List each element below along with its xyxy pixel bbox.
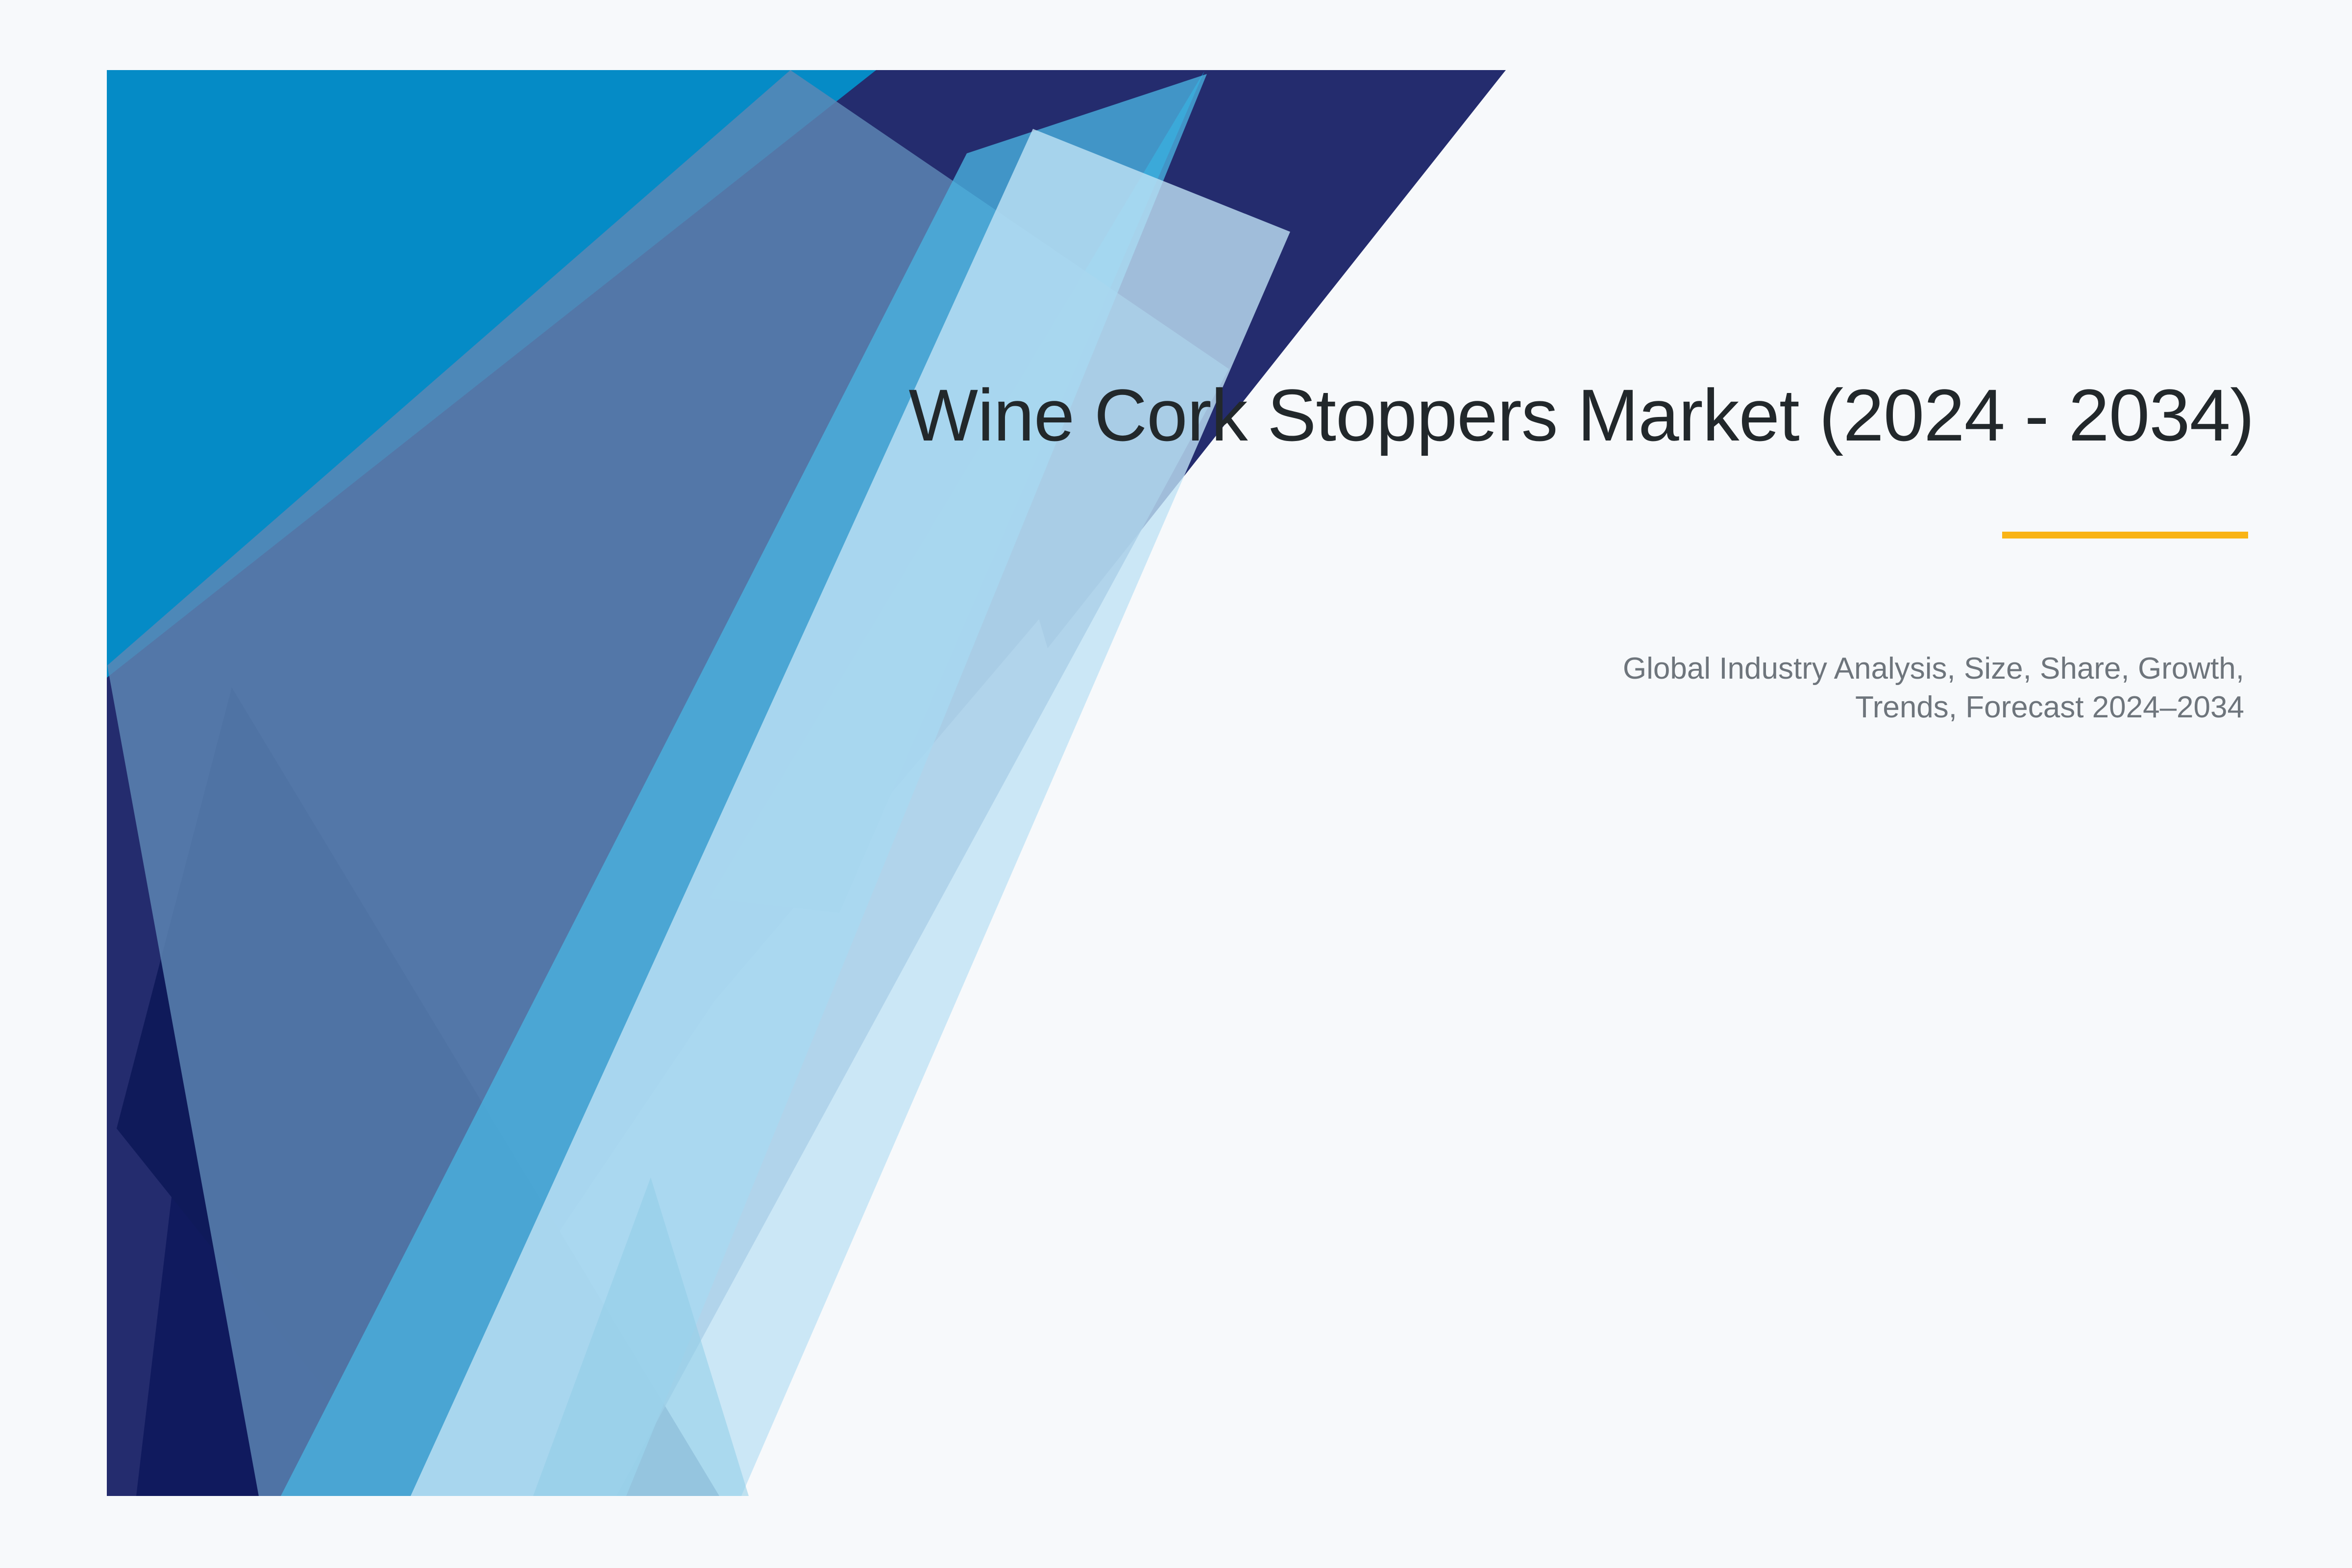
title-underline-accent (2002, 532, 2248, 539)
report-cover: Wine Cork Stoppers Market (2024 - 2034) … (0, 0, 2352, 1568)
page-subtitle: Global Industry Analysis, Size, Share, G… (1519, 649, 2244, 727)
title-block: Wine Cork Stoppers Market (2024 - 2034) (906, 372, 2254, 458)
abstract-geometric-artwork (107, 70, 1506, 1496)
page-title: Wine Cork Stoppers Market (2024 - 2034) (906, 372, 2254, 458)
artwork-svg (107, 70, 1506, 1496)
